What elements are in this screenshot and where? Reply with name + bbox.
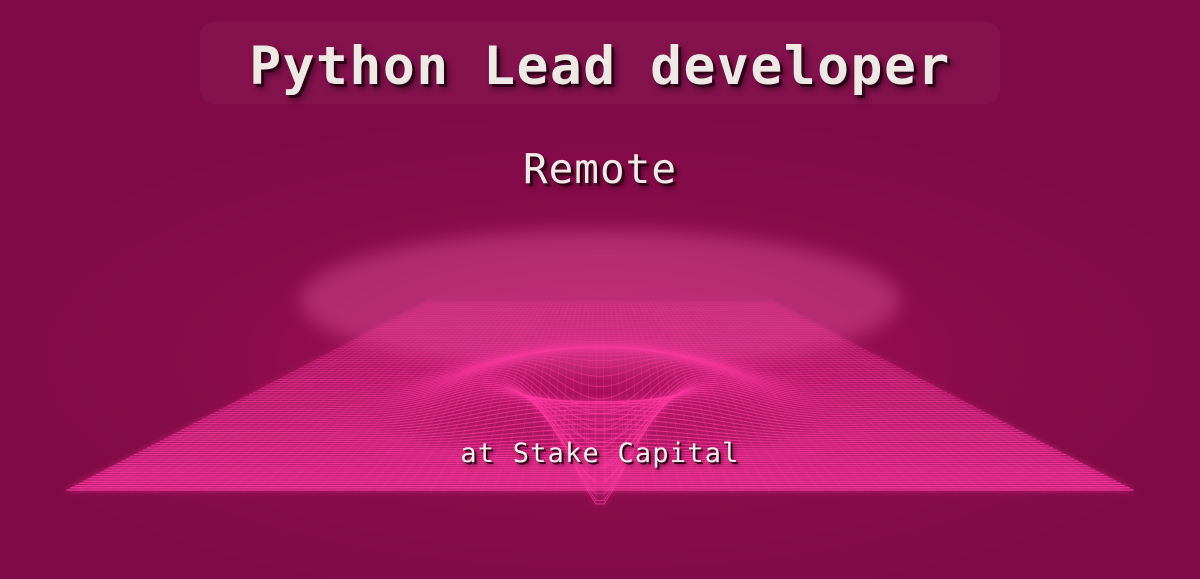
job-posting-card: Python Lead developer Remote at Stake Ca…: [0, 0, 1200, 579]
wireframe-surface-plot: [0, 0, 1200, 579]
mesh-glow-layer: [300, 230, 900, 370]
